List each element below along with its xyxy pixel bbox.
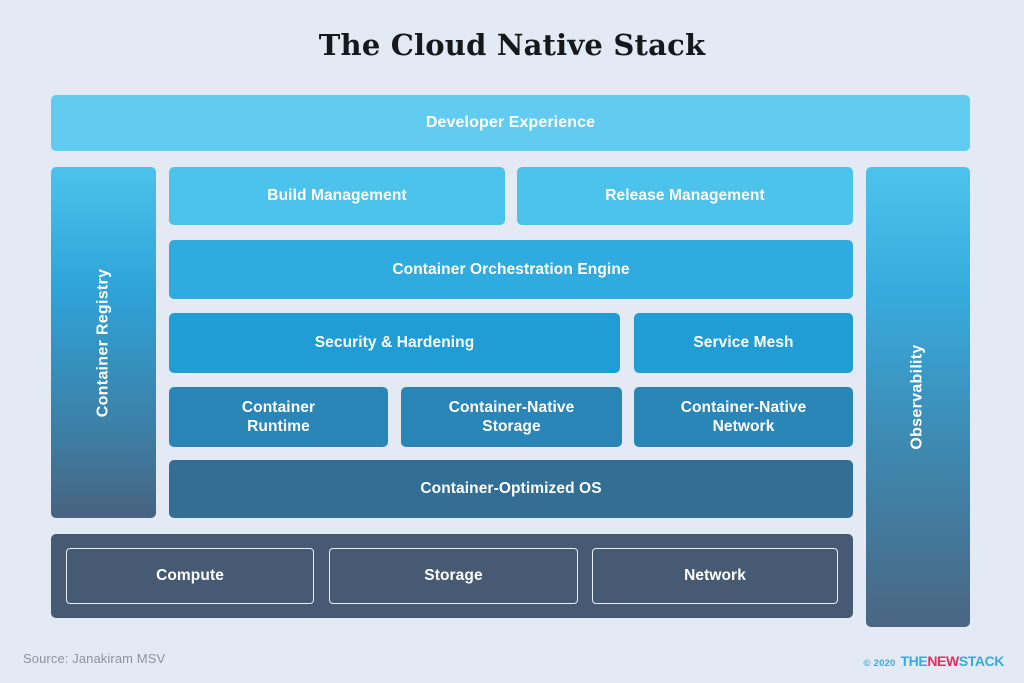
- pillar-observability: Observability: [866, 167, 970, 627]
- infrastructure-item-compute: Compute: [66, 548, 314, 604]
- layer-container-native-storage: Container-NativeStorage: [401, 387, 622, 447]
- infrastructure-item-storage: Storage: [329, 548, 578, 604]
- copyright-text: © 2020: [864, 658, 896, 669]
- logo-segment-stack: STACK: [959, 653, 1004, 669]
- layer-container-runtime: ContainerRuntime: [169, 387, 388, 447]
- pillar-container-registry: Container Registry: [51, 167, 156, 518]
- brand-logo: © 2020 THENEWSTACK: [864, 653, 1004, 669]
- thenewstack-logo: THENEWSTACK: [901, 653, 1004, 669]
- layer-container-optimized-os: Container-Optimized OS: [169, 460, 853, 518]
- pillar-container-registry-label: Container Registry: [95, 268, 113, 417]
- layer-container-orchestration-engine: Container Orchestration Engine: [169, 240, 853, 299]
- layer-container-native-network: Container-NativeNetwork: [634, 387, 853, 447]
- source-attribution: Source: Janakiram MSV: [23, 651, 165, 666]
- layer-release-management: Release Management: [517, 167, 853, 225]
- cloud-native-stack-diagram: Developer Experience Container Registry …: [0, 0, 1024, 683]
- layer-security-hardening: Security & Hardening: [169, 313, 620, 373]
- pillar-observability-label: Observability: [909, 344, 927, 449]
- layer-developer-experience: Developer Experience: [51, 95, 970, 151]
- infrastructure-item-network: Network: [592, 548, 838, 604]
- logo-segment-the: THE: [901, 653, 928, 669]
- layer-build-management: Build Management: [169, 167, 505, 225]
- layer-service-mesh: Service Mesh: [634, 313, 853, 373]
- logo-segment-new: NEW: [927, 653, 958, 669]
- layer-infrastructure: Compute Storage Network: [51, 534, 853, 618]
